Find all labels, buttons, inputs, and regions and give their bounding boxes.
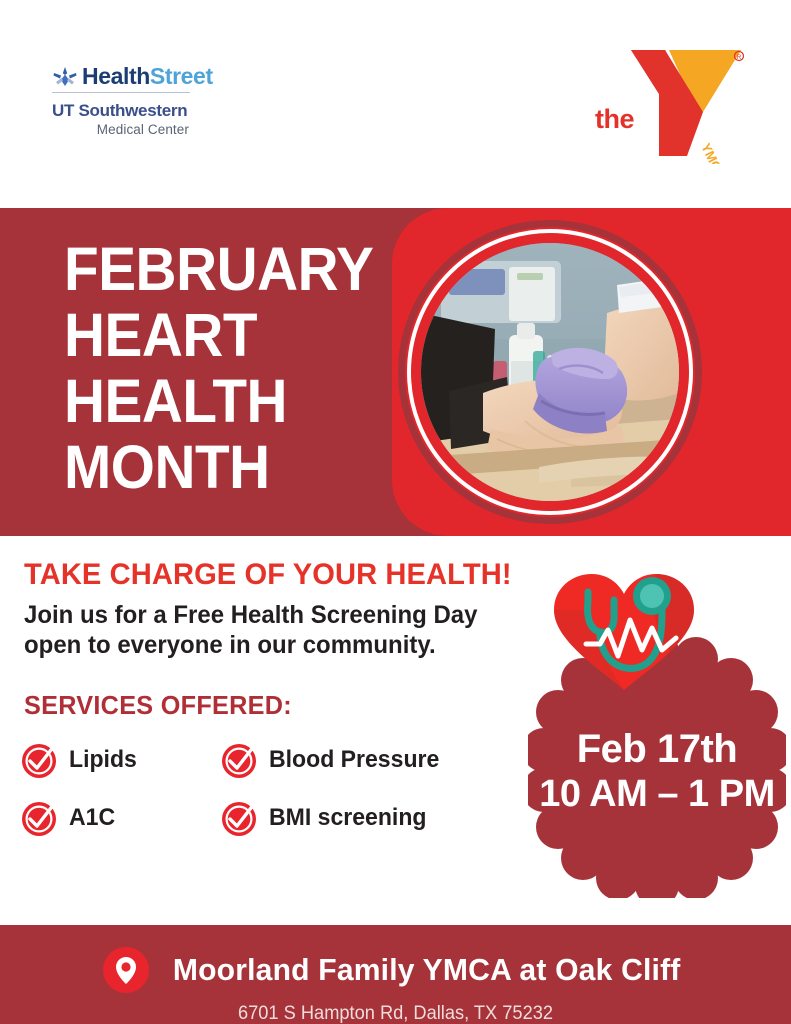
hero-title-line-2: HEART	[64, 302, 399, 368]
badge-time: 10 AM – 1 PM	[528, 772, 786, 816]
heart-stethoscope-ekg-icon	[538, 566, 710, 696]
check-circle-icon	[220, 798, 260, 838]
service-item-bmi: BMI screening	[220, 798, 433, 838]
check-circle-icon	[20, 740, 60, 780]
service-label: BMI screening	[269, 804, 426, 832]
blood-draw-photo	[421, 243, 679, 501]
service-item-a1c: A1C	[20, 798, 220, 838]
services-list: Lipids Blood Pressure	[20, 740, 520, 856]
hero-title-line-1: FEBRUARY	[64, 236, 399, 302]
svg-text:R: R	[737, 55, 742, 61]
footer-address: 6701 S Hampton Rd, Dallas, TX 75232	[16, 1003, 775, 1024]
healthstreet-word-street: Street	[150, 63, 213, 89]
logo-divider	[52, 92, 190, 93]
subtext-line-2: open to everyone in our community.	[24, 630, 504, 660]
hero-banner: FEBRUARY HEART HEALTH MONTH	[0, 208, 791, 536]
badge-text: Feb 17th 10 AM – 1 PM	[528, 726, 786, 816]
ut-southwestern-subtitle: Medical Center	[52, 122, 189, 137]
subtext-line-1: Join us for a Free Health Screening Day	[24, 600, 504, 630]
footer-venue-name: Moorland Family YMCA at Oak Cliff	[173, 952, 681, 988]
check-circle-icon	[20, 798, 60, 838]
flyer-page: HealthStreet UT Southwestern Medical Cen…	[0, 0, 791, 1024]
hero-title-line-4: MONTH	[64, 434, 399, 500]
footer-venue-row: Moorland Family YMCA at Oak Cliff	[0, 947, 791, 993]
footer-bar: Moorland Family YMCA at Oak Cliff 6701 S…	[0, 925, 791, 1024]
section-subtext: Join us for a Free Health Screening Day …	[24, 600, 504, 660]
hero-photo-frame	[398, 220, 702, 524]
services-row: A1C BMI screening	[20, 798, 520, 838]
services-row: Lipids Blood Pressure	[20, 740, 520, 780]
badge-date: Feb 17th	[528, 726, 786, 772]
location-pin-icon	[103, 947, 149, 993]
svg-text:YMCA: YMCA	[698, 141, 729, 164]
service-label: Lipids	[69, 746, 137, 774]
check-circle-icon	[220, 740, 260, 780]
healthstreet-wordmark: HealthStreet	[82, 65, 213, 88]
ymca-y-icon: R YMCA	[629, 42, 745, 164]
healthstreet-word-health: Health	[82, 63, 150, 89]
service-label: Blood Pressure	[269, 746, 439, 774]
services-heading: SERVICES OFFERED:	[24, 690, 292, 721]
date-badge: Feb 17th 10 AM – 1 PM	[528, 598, 786, 898]
service-label: A1C	[69, 804, 115, 832]
healthstreet-figure-icon	[52, 64, 78, 90]
ymca-logo: the R YMCA	[595, 42, 745, 164]
page-title: FEBRUARY HEART HEALTH MONTH	[64, 236, 399, 500]
section-headline: TAKE CHARGE OF YOUR HEALTH!	[24, 558, 512, 592]
service-item-blood-pressure: Blood Pressure	[220, 740, 446, 780]
ut-southwestern-name: UT Southwestern	[52, 102, 252, 119]
service-item-lipids: Lipids	[20, 740, 220, 780]
healthstreet-logo: HealthStreet UT Southwestern Medical Cen…	[52, 62, 252, 137]
hero-title-line-3: HEALTH	[64, 368, 399, 434]
